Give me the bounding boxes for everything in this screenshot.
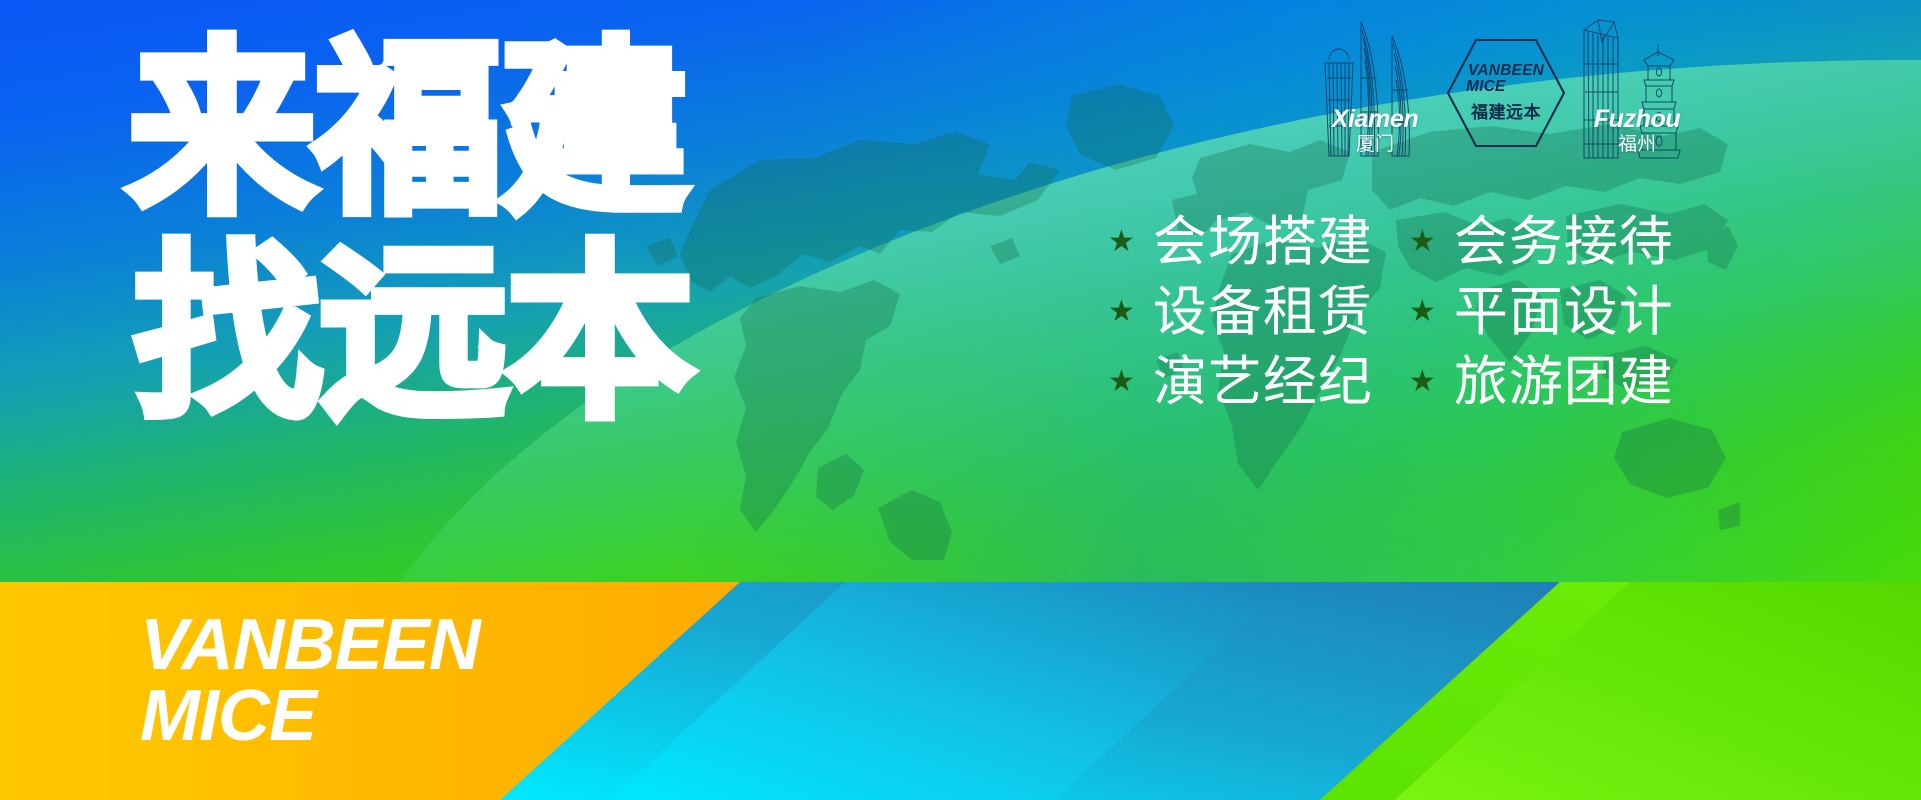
brand-wordmark: VANBEEN MICE bbox=[140, 610, 480, 751]
service-label: 设备租赁 bbox=[1153, 284, 1373, 340]
banner-stage: 来福建 找远本 bbox=[0, 0, 1921, 582]
star-icon: ★ bbox=[1409, 367, 1436, 397]
hex-logo-line-1: VANBEEN bbox=[1468, 63, 1544, 79]
city-badge-fuzhou: Fuzhou 福州 bbox=[1578, 8, 1696, 176]
brand-footer-band: VANBEEN MICE bbox=[0, 582, 1921, 800]
headline-line-2: 找远本 bbox=[134, 242, 768, 428]
hex-logo-line-3: 福建远本 bbox=[1471, 98, 1541, 123]
hex-logo-line-2: MICE bbox=[1466, 79, 1506, 95]
headline-line-1: 来福建 bbox=[128, 38, 768, 224]
brand-line-1: VANBEEN bbox=[140, 610, 480, 681]
page-title: 来福建 找远本 bbox=[128, 38, 768, 428]
xiamen-en-label: Xiamen bbox=[1316, 107, 1434, 132]
service-item: ★ 平面设计 bbox=[1409, 284, 1674, 340]
vanbeen-hex-logo: VANBEEN MICE 福建远本 bbox=[1444, 34, 1568, 152]
service-label: 会务接待 bbox=[1454, 214, 1674, 270]
fuzhou-cn-label: 福州 bbox=[1578, 135, 1696, 154]
service-item: ★ 会务接待 bbox=[1409, 214, 1674, 270]
fuzhou-en-label: Fuzhou bbox=[1578, 107, 1696, 132]
promo-banner: 来福建 找远本 bbox=[0, 0, 1921, 800]
city-badge-xiamen: Xiamen 厦门 bbox=[1316, 8, 1434, 176]
service-item: ★ 旅游团建 bbox=[1409, 354, 1674, 410]
star-icon: ★ bbox=[1108, 297, 1135, 327]
service-item: ★ 演艺经纪 bbox=[1108, 354, 1373, 410]
service-label: 会场搭建 bbox=[1153, 214, 1373, 270]
star-icon: ★ bbox=[1409, 297, 1436, 327]
xiamen-labels: Xiamen 厦门 bbox=[1316, 107, 1434, 154]
service-item: ★ 设备租赁 bbox=[1108, 284, 1373, 340]
hex-logo-text: VANBEEN MICE 福建远本 bbox=[1444, 34, 1568, 152]
service-item: ★ 会场搭建 bbox=[1108, 214, 1373, 270]
service-label: 平面设计 bbox=[1454, 284, 1674, 340]
star-icon: ★ bbox=[1108, 227, 1135, 257]
star-icon: ★ bbox=[1108, 367, 1135, 397]
fuzhou-labels: Fuzhou 福州 bbox=[1578, 107, 1696, 154]
city-logo-band: Xiamen 厦门 VANBEEN MICE 福建远本 bbox=[1316, 8, 1696, 176]
xiamen-cn-label: 厦门 bbox=[1316, 135, 1434, 154]
service-list: ★ 会场搭建 ★ 会务接待 ★ 设备租赁 ★ 平面设计 ★ 演艺经纪 ★ 旅游团… bbox=[1108, 214, 1674, 410]
brand-line-2: MICE bbox=[140, 681, 480, 752]
service-label: 旅游团建 bbox=[1454, 354, 1674, 410]
star-icon: ★ bbox=[1409, 227, 1436, 257]
service-label: 演艺经纪 bbox=[1153, 354, 1373, 410]
